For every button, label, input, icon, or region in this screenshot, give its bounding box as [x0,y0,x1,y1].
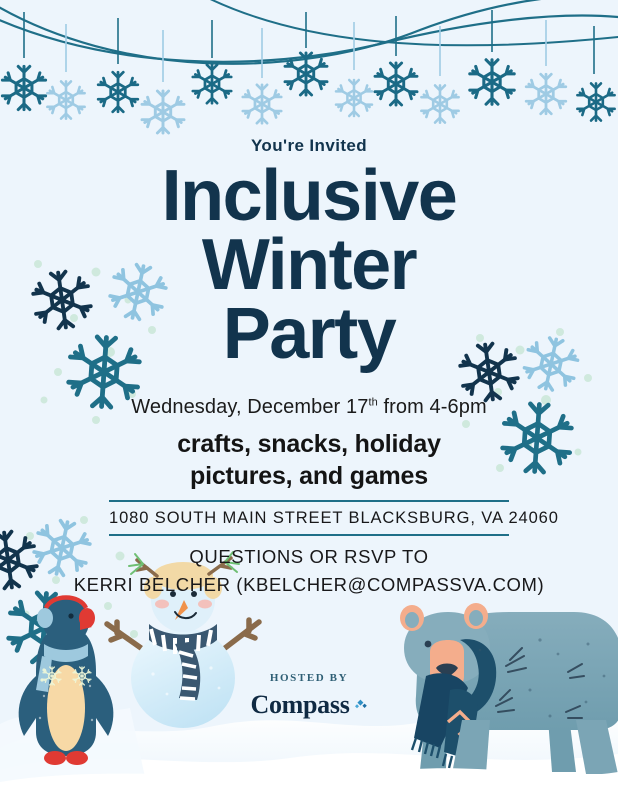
hosted-by-label: HOSTED BY [0,672,618,684]
rsvp-line-2: KERRI BELCHER (KBELCHER@COMPASSVA.COM) [0,571,618,599]
rsvp-line-1: QUESTIONS OR RSVP TO [0,543,618,571]
compass-diamond-icon [352,691,368,707]
address-block: 1080 SOUTH MAIN STREET BLACKSBURG, VA 24… [109,500,509,536]
activities-line-1: crafts, snacks, holiday [0,428,618,460]
event-activities: crafts, snacks, holiday pictures, and ga… [0,428,618,492]
event-date-prefix: Wednesday, December 17 [131,396,368,418]
title-line-2: Winter [0,231,618,300]
address-rule-bottom [109,534,509,536]
event-datetime: Wednesday, December 17th from 4-6pm [0,396,618,419]
winter-party-flyer: You're Invited Inclusive Winter Party We… [0,0,618,800]
title-line-1: Inclusive [0,162,618,231]
event-address: 1080 SOUTH MAIN STREET BLACKSBURG, VA 24… [109,502,509,534]
event-date-ordinal: th [368,396,377,408]
activities-line-2: pictures, and games [0,460,618,492]
page-title: Inclusive Winter Party [0,162,618,369]
eyebrow-text: You're Invited [0,136,618,156]
rsvp-block: QUESTIONS OR RSVP TO KERRI BELCHER (KBEL… [0,543,618,599]
title-line-3: Party [0,300,618,369]
flyer-text-content: You're Invited Inclusive Winter Party We… [0,0,618,800]
compass-wordmark: Compass [250,690,349,719]
event-time-suffix: from 4-6pm [378,396,487,418]
compass-logo: Compass [0,690,618,720]
